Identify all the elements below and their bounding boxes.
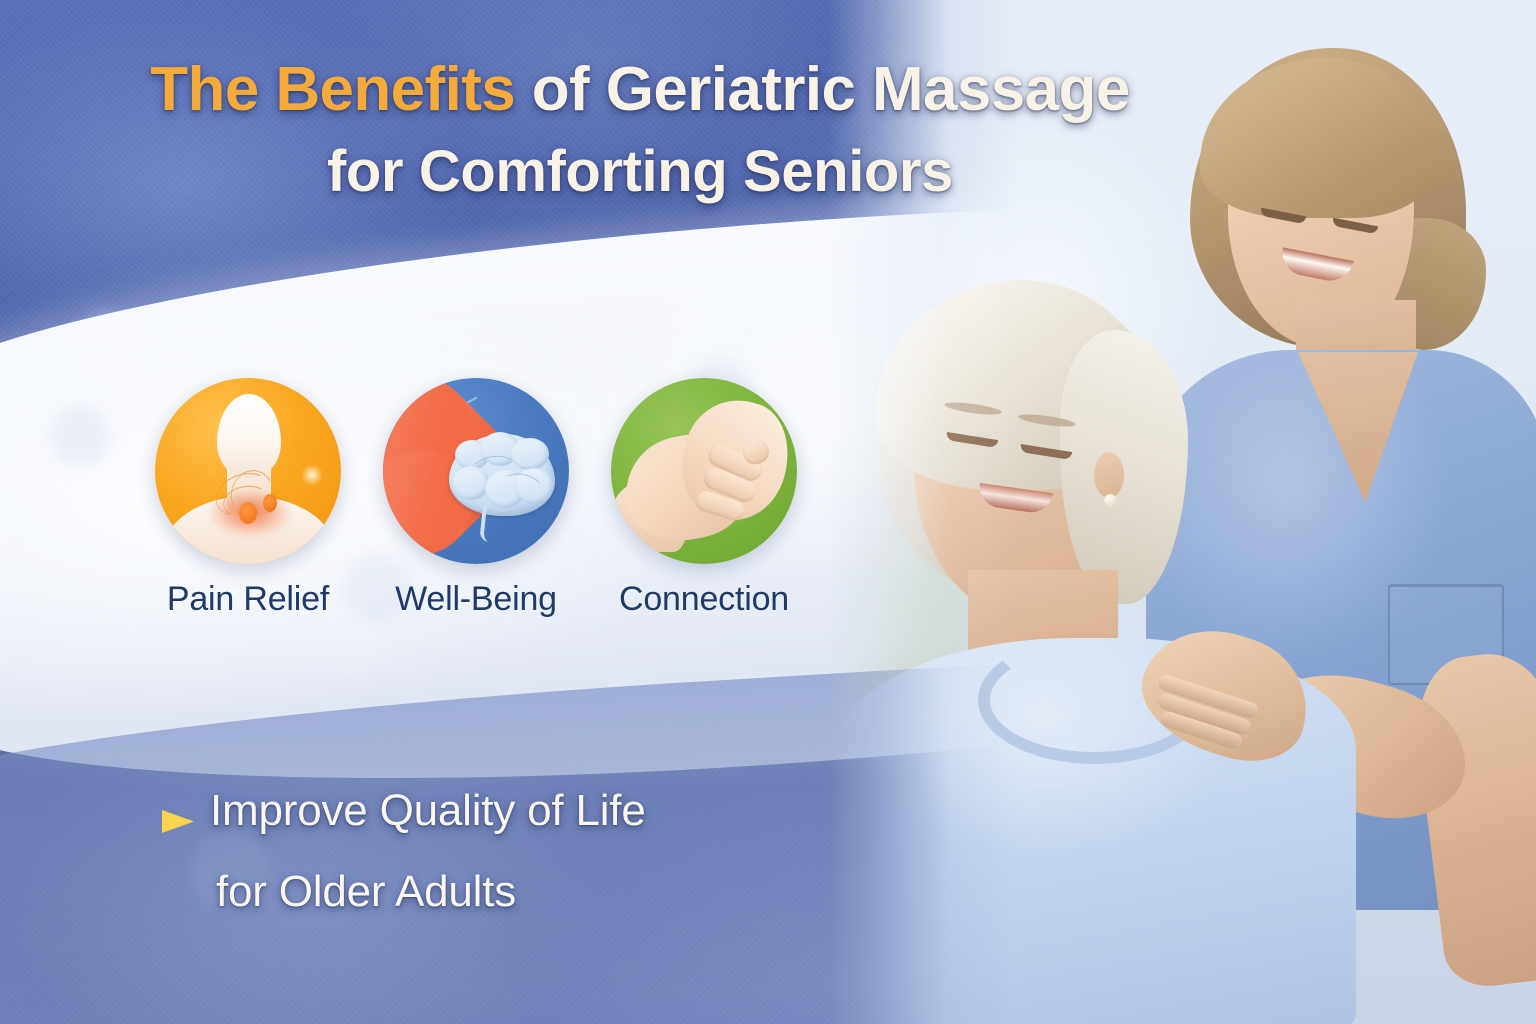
cta-line-2: for Older Adults [216, 867, 646, 916]
geriatric-massage-poster: The Benefits of Geriatric Massage for Co… [0, 0, 1536, 1024]
benefit-badges: Pain Relief Well-Being [148, 378, 804, 619]
brain-shape [449, 434, 555, 516]
clasped-hands-icon [611, 378, 797, 564]
pain-head [217, 394, 281, 478]
brain-stem [479, 505, 499, 542]
title-line-1: The Benefits of Geriatric Massage [0, 58, 1280, 122]
title-line-2: for Comforting Seniors [0, 138, 1280, 205]
title-rest-text: of Geriatric Massage [515, 55, 1130, 124]
benefit-item-well-being[interactable]: Well-Being [376, 378, 576, 619]
senior-ear [1094, 452, 1124, 498]
benefit-label-well-being: Well-Being [395, 580, 557, 619]
pain-spark [301, 464, 323, 486]
cta-block: Improve Quality of Life for Older Adults [108, 786, 646, 916]
cta-line-1: Improve Quality of Life [210, 786, 646, 835]
poster-title-block: The Benefits of Geriatric Massage for Co… [0, 58, 1280, 205]
pain-point-1 [239, 502, 257, 524]
pain-point-2 [263, 494, 277, 512]
benefit-item-pain-relief[interactable]: Pain Relief [148, 378, 348, 619]
right-arrow-icon [108, 804, 194, 843]
title-accent-text: The Benefits [150, 55, 515, 124]
benefit-label-connection: Connection [619, 580, 789, 619]
senior-earring [1104, 494, 1117, 507]
heart-brain-icon [383, 378, 569, 564]
benefit-item-connection[interactable]: Connection [604, 378, 804, 619]
benefit-label-pain-relief: Pain Relief [167, 580, 329, 619]
neck-shoulder-pain-icon [155, 378, 341, 564]
